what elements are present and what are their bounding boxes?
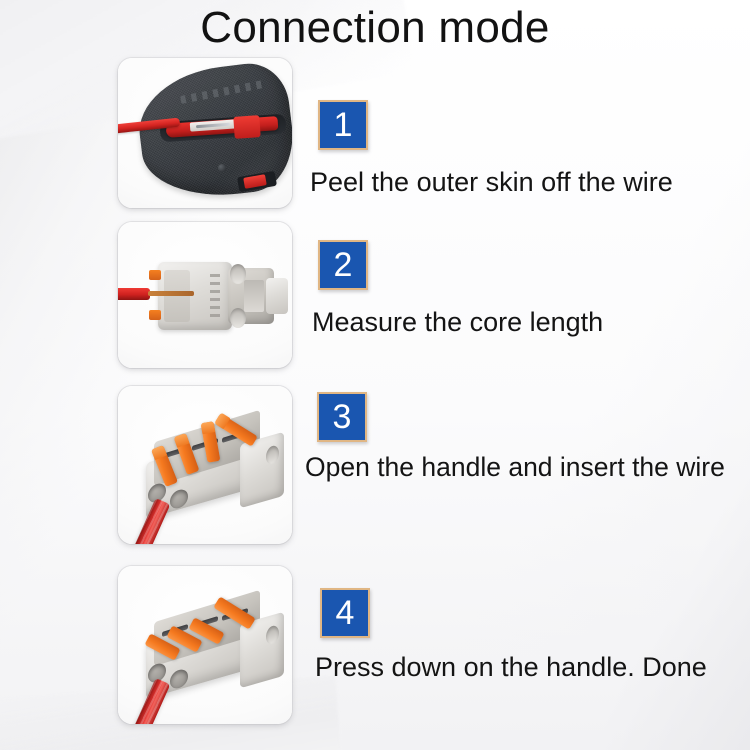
orange-lever-tip-bottom (149, 310, 161, 320)
step-4-number-badge: 4 (320, 588, 370, 638)
connector-end-tab (266, 278, 288, 314)
orange-lever-tip-top (149, 270, 161, 280)
step-1-photo-card (118, 58, 292, 208)
connector-printed-label (210, 274, 220, 318)
step-3-number-badge: 3 (317, 392, 367, 442)
stripper-red-block (233, 115, 260, 139)
step-3-text: Open the handle and insert the wire (305, 450, 725, 484)
step-3-photo-card (118, 386, 292, 544)
step-4-photo-card (118, 566, 292, 724)
exposed-copper-core (148, 291, 194, 296)
step-1-number-badge: 1 (318, 100, 368, 150)
red-wire (118, 288, 150, 300)
step-4-text: Press down on the handle. Done (315, 650, 707, 684)
connector-body-face (164, 270, 190, 322)
connection-mode-infographic: Connection mode 1 Peel the outer skin of… (0, 0, 750, 750)
connector-centre-slot (244, 280, 264, 312)
step-2-number-badge: 2 (318, 240, 368, 290)
step-1-text: Peel the outer skin off the wire (310, 165, 673, 199)
page-title: Connection mode (0, 2, 750, 54)
step-2-photo-card (118, 222, 292, 368)
step-2-text: Measure the core length (312, 305, 603, 339)
